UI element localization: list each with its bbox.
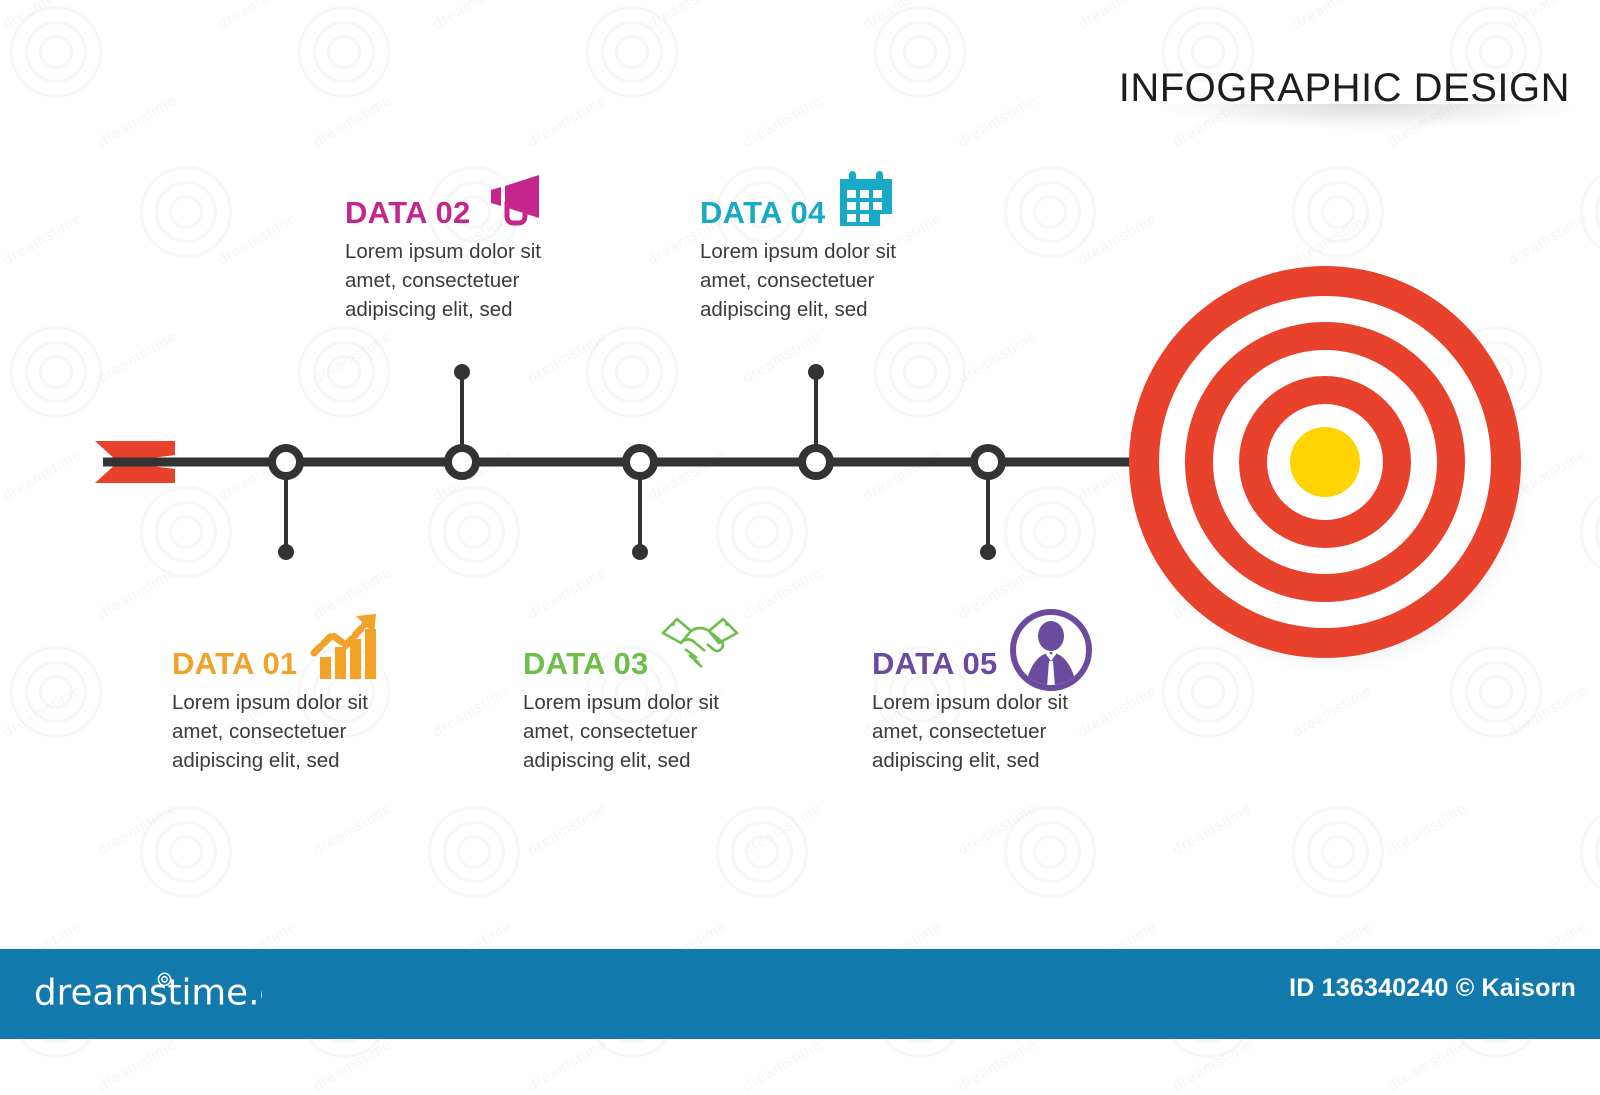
data-block-header: DATA 01: [172, 627, 410, 679]
data-block-text: Lorem ipsum dolor sit amet, consectetuer…: [172, 688, 410, 775]
watermark-text: dreamstime: [1170, 800, 1255, 859]
data-block-header: DATA 05: [872, 627, 1110, 679]
businessman-avatar-icon: [1008, 623, 1070, 679]
watermark-text: dreamstime: [310, 1036, 395, 1095]
watermark-spiral-icon: [1292, 806, 1384, 898]
dreamstime-logo-text: dreamstime.com: [34, 972, 262, 1013]
data-block-data-03[interactable]: DATA 03 Lorem ipsum dolo: [523, 627, 761, 775]
data-block-title: DATA 01: [172, 648, 298, 679]
watermark-spiral-icon: [140, 806, 232, 898]
watermark-text: dreamstime: [525, 800, 610, 859]
data-block-data-05[interactable]: DATA 05 Lorem ipsum dolor sit amet, cons…: [872, 627, 1110, 775]
data-block-text: Lorem ipsum dolor sit amet, consectetuer…: [523, 688, 761, 775]
data-block-header: DATA 03: [523, 627, 761, 679]
data-block-text: Lorem ipsum dolor sit amet, consectetuer…: [700, 237, 938, 324]
data-block-header: DATA 04: [700, 176, 938, 228]
infographic-canvas: dreamstimedreamstimedreamstimedreamstime…: [0, 0, 1600, 1039]
watermark-text: dreamstime: [955, 1036, 1040, 1095]
watermark-spiral-icon: [716, 806, 808, 898]
watermark-text: dreamstime: [1385, 800, 1470, 859]
dreamstime-logo: dreamstime.com: [34, 971, 262, 1015]
timeline-node-5: [974, 448, 1002, 476]
watermark-text: dreamstime: [1385, 1036, 1470, 1095]
timeline-node-4: [802, 448, 830, 476]
data-block-data-01[interactable]: DATA 01 Lorem ipsum dolor sit amet, cons…: [172, 627, 410, 775]
data-block-title: DATA 02: [345, 197, 471, 228]
data-block-text: Lorem ipsum dolor sit amet, consectetuer…: [345, 237, 583, 324]
watermark-text: dreamstime: [310, 800, 395, 859]
data-block-data-04[interactable]: DATA 04: [700, 176, 938, 324]
watermark-spiral-icon: [1580, 806, 1600, 898]
data-block-data-02[interactable]: DATA 02 Lorem ipsum dolor sit amet, cons…: [345, 176, 583, 324]
watermark-text: dreamstime: [525, 1036, 610, 1095]
watermark-text: dreamstime: [95, 1036, 180, 1095]
growth-chart-icon: [308, 623, 370, 679]
handshake-icon: [659, 623, 721, 679]
data-block-title: DATA 03: [523, 648, 649, 679]
watermark-text: dreamstime: [95, 800, 180, 859]
timeline-node-3: [626, 448, 654, 476]
timeline-node-2: [448, 448, 476, 476]
watermark-spiral-icon: [428, 806, 520, 898]
footer-bar: dreamstime.com ID 136340240 © Kaisorn: [0, 949, 1600, 1039]
data-block-header: DATA 02: [345, 176, 583, 228]
watermark-spiral-icon: [1004, 806, 1096, 898]
data-block-title: DATA 05: [872, 648, 998, 679]
watermark-text: dreamstime: [1170, 1036, 1255, 1095]
data-block-title: DATA 04: [700, 197, 826, 228]
watermark-text: dreamstime: [740, 1036, 825, 1095]
megaphone-icon: [481, 172, 543, 228]
dartboard-target: [1118, 255, 1538, 675]
watermark-text: dreamstime: [955, 800, 1040, 859]
watermark-text: dreamstime: [740, 800, 825, 859]
calendar-icon: [836, 172, 898, 228]
image-credit: ID 136340240 © Kaisorn: [1289, 974, 1576, 1003]
data-block-text: Lorem ipsum dolor sit amet, consectetuer…: [872, 688, 1110, 775]
timeline-node-1: [272, 448, 300, 476]
